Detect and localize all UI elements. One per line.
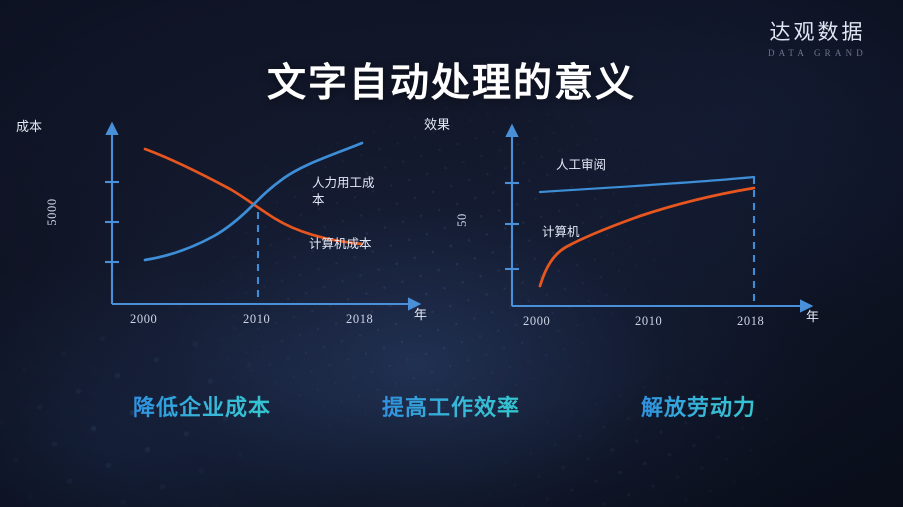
effect-chart-plot <box>462 126 832 341</box>
effect-chart-y-axis-title: 效果 <box>424 114 450 133</box>
benefit-caption-improve-efficiency: 提高工作效率 <box>382 390 520 422</box>
key-benefits-row: 降低企业成本 提高工作效率 解放劳动力 <box>0 390 903 424</box>
effect-chart-x-axis-title: 年 <box>806 306 819 325</box>
effect-chart-label-manual: 人工审阅 <box>556 156 606 173</box>
effect-chart-y-tick-label: 50 <box>455 213 470 227</box>
cost-chart-x-tick-2010: 2010 <box>243 312 270 327</box>
effect-chart-x-tick-2000: 2000 <box>523 314 550 329</box>
cost-chart-y-tick-label: 5000 <box>45 198 60 225</box>
slide-canvas: 达观数据 DATA GRAND 文字自动处理的意义 成本 年 5000 <box>0 0 903 507</box>
cost-chart-x-tick-2000: 2000 <box>130 312 157 327</box>
effect-chart: 效果 年 50 <box>462 126 832 341</box>
cost-chart-x-axis-title: 年 <box>414 304 427 323</box>
effect-chart-label-computer: 计算机 <box>542 223 580 240</box>
effect-chart-x-tick-2018: 2018 <box>737 314 764 329</box>
benefit-caption-reduce-cost: 降低企业成本 <box>133 390 271 422</box>
effect-chart-series-manual <box>540 177 754 192</box>
brand-logo-cn: 达观数据 <box>768 22 867 43</box>
cost-chart-label-labor: 人力用工成 本 <box>312 174 392 208</box>
cost-chart: 成本 年 5000 <box>62 126 432 341</box>
cost-chart-label-computer: 计算机成本 <box>309 235 372 252</box>
benefit-caption-free-labor: 解放劳动力 <box>641 390 756 422</box>
effect-chart-x-tick-2010: 2010 <box>635 314 662 329</box>
cost-chart-plot <box>62 126 432 341</box>
cost-chart-x-tick-2018: 2018 <box>346 312 373 327</box>
page-title: 文字自动处理的意义 <box>0 52 903 108</box>
cost-chart-y-axis-title: 成本 <box>16 116 42 135</box>
